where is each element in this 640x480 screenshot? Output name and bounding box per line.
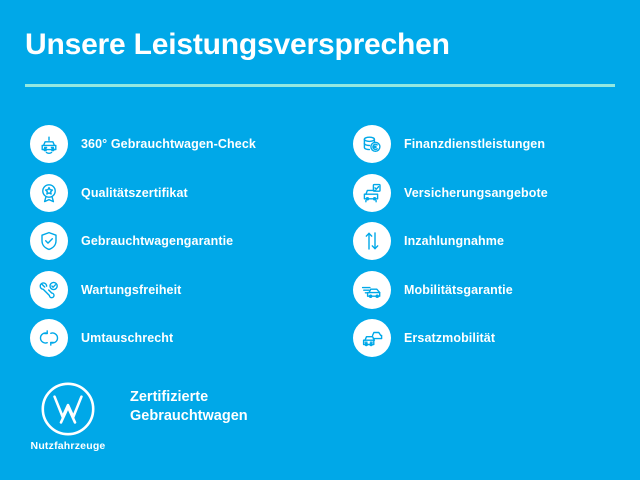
- list-item[interactable]: 360° Gebrauchtwagen-Check: [30, 120, 330, 169]
- list-item-label: Versicherungsangebote: [404, 186, 548, 200]
- exchange-arrows-icon: [30, 319, 68, 357]
- list-item[interactable]: Ersatzmobilität: [353, 314, 633, 363]
- list-item-label: 360° Gebrauchtwagen-Check: [81, 137, 256, 151]
- list-item-label: Qualitätszertifikat: [81, 186, 188, 200]
- volkswagen-logo: [40, 381, 96, 437]
- award-rosette-icon: [30, 174, 68, 212]
- list-item[interactable]: Gebrauchtwagengarantie: [30, 217, 330, 266]
- slide-root: Unsere Leistungsversprechen 360°: [0, 0, 640, 480]
- list-item[interactable]: Wartungsfreiheit: [30, 266, 330, 315]
- footer-claim-line-2: Gebrauchtwagen: [130, 407, 248, 426]
- benefits-column-right: Finanzdienstleistungen Versicherungsange…: [353, 120, 633, 363]
- list-item-label: Finanzdienstleistungen: [404, 137, 545, 151]
- car-checklist-icon: [353, 174, 391, 212]
- car-motion-icon: [353, 271, 391, 309]
- footer-claim-line-1: Zertifizierte: [130, 388, 248, 407]
- header-divider: [25, 84, 615, 87]
- benefits-column-left: 360° Gebrauchtwagen-Check Qualitätszerti…: [30, 120, 330, 363]
- shield-check-icon: [30, 222, 68, 260]
- list-item[interactable]: Mobilitätsgarantie: [353, 266, 633, 315]
- car-inspection-icon: [30, 125, 68, 163]
- list-item[interactable]: Inzahlungnahme: [353, 217, 633, 266]
- list-item[interactable]: Versicherungsangebote: [353, 169, 633, 218]
- footer-lockup: Nutzfahrzeuge Zertifizierte Gebrauchtwag…: [30, 381, 248, 452]
- coins-euro-icon: [353, 125, 391, 163]
- list-item[interactable]: Umtauschrecht: [30, 314, 330, 363]
- page-title: Unsere Leistungsversprechen: [25, 28, 450, 62]
- arrows-up-down-icon: [353, 222, 391, 260]
- list-item-label: Umtauschrecht: [81, 331, 173, 345]
- logo-subline: Nutzfahrzeuge: [31, 440, 106, 452]
- wrench-check-icon: [30, 271, 68, 309]
- list-item-label: Mobilitätsgarantie: [404, 283, 513, 297]
- list-item[interactable]: Finanzdienstleistungen: [353, 120, 633, 169]
- brand-logo-block: Nutzfahrzeuge: [30, 381, 106, 452]
- list-item-label: Inzahlungnahme: [404, 234, 504, 248]
- list-item-label: Ersatzmobilität: [404, 331, 495, 345]
- list-item-label: Wartungsfreiheit: [81, 283, 181, 297]
- list-item[interactable]: Qualitätszertifikat: [30, 169, 330, 218]
- list-item-label: Gebrauchtwagengarantie: [81, 234, 233, 248]
- footer-claim: Zertifizierte Gebrauchtwagen: [130, 388, 248, 427]
- two-cars-icon: [353, 319, 391, 357]
